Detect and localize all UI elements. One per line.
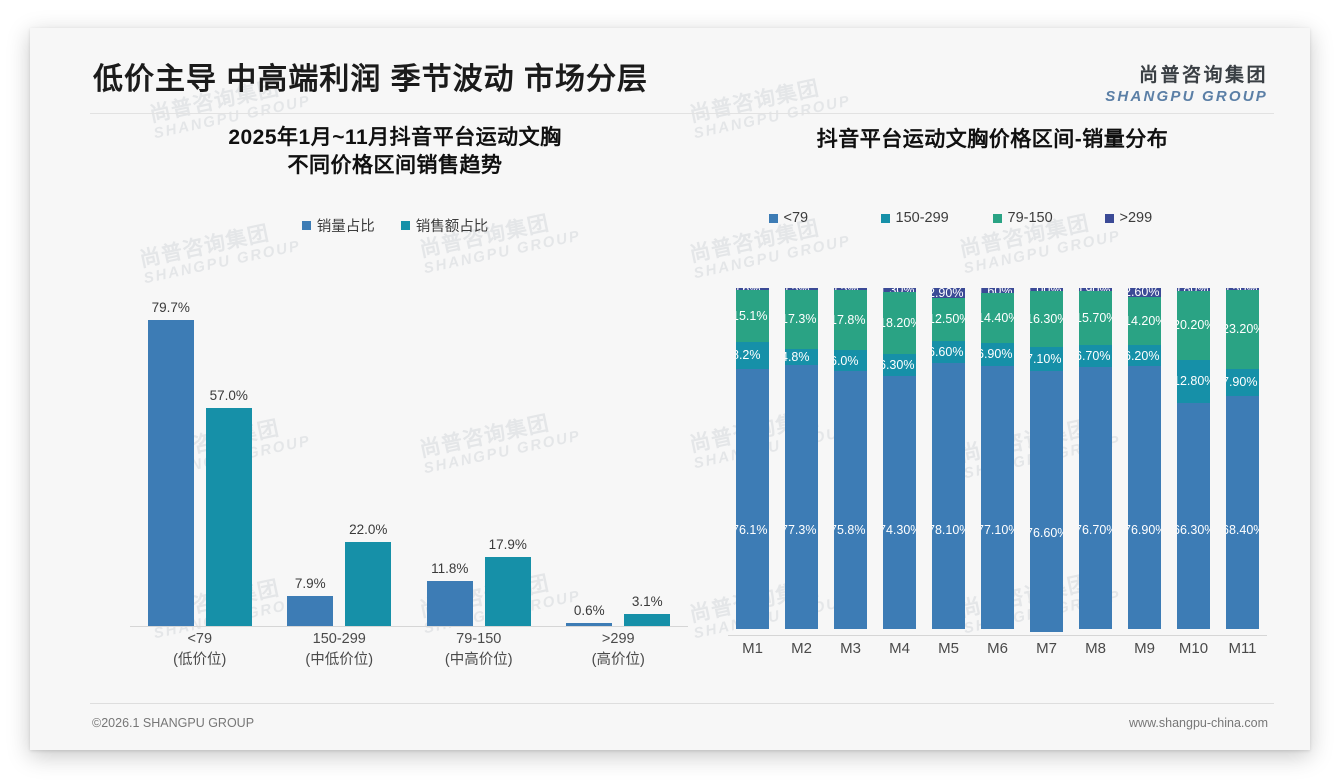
segment-value-label: 6.0% xyxy=(834,354,867,368)
bar-column[interactable]: 57.0% xyxy=(206,281,252,626)
legend-label: 销售额占比 xyxy=(416,215,489,236)
segment-value-label: 6.70% xyxy=(1079,349,1112,363)
segment-value-label: 78.10% xyxy=(932,523,965,537)
stacked-segment-150-299[interactable]: 12.80% xyxy=(1177,360,1210,404)
bar-value-label: 57.0% xyxy=(184,388,274,403)
bar-revenue[interactable] xyxy=(206,408,252,627)
bar-value-label: 11.8% xyxy=(405,561,495,576)
x-tick-tier: (中低价位) xyxy=(270,650,410,671)
left-legend-item-1[interactable]: 销售额占比 xyxy=(401,215,489,236)
right-chart-legend: <79150-29979-150>299 xyxy=(710,210,1275,226)
x-tick-label: 150-299(中低价位) xyxy=(270,629,410,671)
stacked-segment-<79[interactable]: 75.8% xyxy=(834,371,867,629)
segment-value-label: 77.10% xyxy=(981,523,1014,537)
right-chart-x-tick-labels: M1M2M3M4M5M6M7M8M9M10M11 xyxy=(728,640,1267,657)
legend-swatch-icon xyxy=(1105,214,1114,223)
bar-value-label: 79.7% xyxy=(126,300,216,315)
x-tick-tier: (高价位) xyxy=(549,650,689,671)
stacked-bar[interactable]: 0.5%17.8%6.0%75.8% xyxy=(834,288,867,635)
bar-revenue[interactable] xyxy=(485,557,531,626)
bar-value-label: 7.9% xyxy=(265,576,355,591)
x-tick-label-month: M7 xyxy=(1022,640,1071,657)
stacked-bar-column[interactable]: 2.90%12.50%6.60%78.10% xyxy=(924,288,973,635)
stacked-segment-<79[interactable]: 76.60% xyxy=(1030,371,1063,632)
stacked-segment->299[interactable]: 2.60% xyxy=(1128,288,1161,297)
stacked-bar[interactable]: 0.90%15.70%6.70%76.70% xyxy=(1079,288,1112,635)
right-chart-x-axis xyxy=(728,635,1267,636)
stacked-bar-chart: 0.6%15.1%8.2%76.1%0.5%17.3%4.8%77.3%0.5%… xyxy=(720,288,1267,636)
bar-column[interactable]: 22.0% xyxy=(345,281,391,626)
x-tick-label-month: M6 xyxy=(973,640,1022,657)
segment-value-label: 76.1% xyxy=(736,523,769,537)
segment-value-label: 75.8% xyxy=(834,523,867,537)
segment-value-label: 76.90% xyxy=(1128,523,1161,537)
left-legend-item-0[interactable]: 销量占比 xyxy=(302,215,375,236)
stacked-segment-79-150[interactable]: 17.8% xyxy=(834,290,867,351)
left-chart-panel: 2025年1月~11月抖音平台运动文胸 不同价格区间销售趋势 销量占比销售额占比… xyxy=(90,124,700,704)
stacked-bar-column[interactable]: 0.5%17.3%4.8%77.3% xyxy=(777,288,826,635)
segment-value-label: 15.70% xyxy=(1079,311,1112,325)
legend-swatch-icon xyxy=(993,214,1002,223)
stacked-bar-column[interactable]: 0.50%23.20%7.90%68.40% xyxy=(1218,288,1267,635)
stacked-bar-column[interactable]: 0.90%15.70%6.70%76.70% xyxy=(1071,288,1120,635)
x-tick-label: >299(高价位) xyxy=(549,629,689,671)
segment-value-label: 77.3% xyxy=(785,523,818,537)
page-title: 低价主导 中高端利润 季节波动 市场分层 xyxy=(93,54,648,98)
stacked-segment-79-150[interactable]: 15.70% xyxy=(1079,291,1112,345)
bar-revenue[interactable] xyxy=(624,614,670,626)
stacked-bar[interactable]: 0.80%20.20%12.80%66.30% xyxy=(1177,288,1210,635)
legend-label: 79-150 xyxy=(1008,210,1053,226)
segment-value-label: 8.2% xyxy=(736,348,769,362)
bar-column[interactable]: 7.9% xyxy=(287,281,333,626)
stacked-segment-79-150[interactable]: 23.20% xyxy=(1226,290,1259,369)
segment-value-label: 15.1% xyxy=(736,309,769,323)
stacked-segment-<79[interactable]: 66.30% xyxy=(1177,403,1210,629)
header-divider xyxy=(90,113,1274,114)
left-chart-title: 2025年1月~11月抖音平台运动文胸 不同价格区间销售趋势 xyxy=(90,124,700,181)
bar-volume[interactable] xyxy=(427,581,473,626)
stacked-segment-150-299[interactable]: 4.8% xyxy=(785,349,818,365)
stacked-segment-79-150[interactable]: 14.40% xyxy=(981,293,1014,342)
legend-swatch-icon xyxy=(401,221,410,230)
segment-value-label: 14.40% xyxy=(981,311,1014,325)
stacked-bar[interactable]: 0.5%17.3%4.8%77.3% xyxy=(785,288,818,635)
left-chart-x-tick-labels: <79(低价位)150-299(中低价位)79-150(中高价位)>299(高价… xyxy=(130,629,688,671)
bar-column[interactable]: 3.1% xyxy=(624,281,670,626)
bar-value-label: 3.1% xyxy=(602,594,692,609)
bar-group: 0.6%3.1% xyxy=(549,281,689,626)
bar-group: 7.9%22.0% xyxy=(270,281,410,626)
segment-value-label: 6.30% xyxy=(883,358,916,372)
legend-label: 150-299 xyxy=(896,210,949,226)
x-tick-tier: (低价位) xyxy=(130,650,270,671)
segment-value-label: 7.90% xyxy=(1226,375,1259,389)
stacked-segment-79-150[interactable]: 20.20% xyxy=(1177,291,1210,360)
bar-volume[interactable] xyxy=(148,320,194,626)
logo-text-en: SHANGPU GROUP xyxy=(1105,88,1268,105)
slide-footer: ©2026.1 SHANGPU GROUP www.shangpu-china.… xyxy=(30,704,1310,750)
segment-value-label: 12.50% xyxy=(932,312,965,326)
stacked-bar-column[interactable]: 1.60%14.40%6.90%77.10% xyxy=(973,288,1022,635)
left-chart-legend: 销量占比销售额占比 xyxy=(90,215,700,236)
stacked-bar[interactable]: 0.6%15.1%8.2%76.1% xyxy=(736,288,769,635)
x-tick-label-month: M3 xyxy=(826,640,875,657)
right-chart-panel: 抖音平台运动文胸价格区间-销量分布 <79150-29979-150>299 0… xyxy=(710,124,1275,704)
bar-value-label: 22.0% xyxy=(323,522,413,537)
bar-value-label: 17.9% xyxy=(463,537,553,552)
stacked-bar[interactable]: 2.60%14.20%6.20%76.90% xyxy=(1128,288,1161,635)
stacked-segment-79-150[interactable]: 18.20% xyxy=(883,292,916,354)
legend-label: >299 xyxy=(1120,210,1153,226)
bar-revenue[interactable] xyxy=(345,542,391,626)
stacked-segment-150-299[interactable]: 6.60% xyxy=(932,341,965,364)
stacked-segment-79-150[interactable]: 15.1% xyxy=(736,290,769,341)
stacked-bar-column[interactable]: 0.5%17.8%6.0%75.8% xyxy=(826,288,875,635)
stacked-segment-<79[interactable]: 74.30% xyxy=(883,376,916,629)
legend-label: 销量占比 xyxy=(317,215,375,236)
segment-value-label: 76.60% xyxy=(1030,526,1063,540)
stacked-segment-<79[interactable]: 76.90% xyxy=(1128,366,1161,628)
segment-value-label: 74.30% xyxy=(883,523,916,537)
segment-value-label: 7.10% xyxy=(1030,352,1063,366)
stacked-segment->299[interactable]: 2.90% xyxy=(932,288,965,298)
x-tick-label-month: M4 xyxy=(875,640,924,657)
stacked-segment-79-150[interactable]: 14.20% xyxy=(1128,297,1161,345)
right-legend-item-1[interactable]: 150-299 xyxy=(881,210,993,226)
stacked-segment-<79[interactable]: 76.1% xyxy=(736,369,769,629)
stacked-segment-150-299[interactable]: 7.90% xyxy=(1226,369,1259,396)
x-tick-label-month: M10 xyxy=(1169,640,1218,657)
stacked-segment-<79[interactable]: 77.3% xyxy=(785,365,818,629)
segment-value-label: 6.60% xyxy=(932,345,965,359)
stacked-segment-79-150[interactable]: 17.3% xyxy=(785,290,818,349)
stacked-segment-150-299[interactable]: 6.70% xyxy=(1079,345,1112,368)
stacked-bar-column[interactable]: 0.6%15.1%8.2%76.1% xyxy=(728,288,777,635)
segment-value-label: 18.20% xyxy=(883,316,916,330)
legend-swatch-icon xyxy=(881,214,890,223)
stacked-bar-column[interactable]: 0.80%20.20%12.80%66.30% xyxy=(1169,288,1218,635)
stacked-segment-<79[interactable]: 77.10% xyxy=(981,366,1014,629)
stacked-bar[interactable]: 2.90%12.50%6.60%78.10% xyxy=(932,288,965,635)
stacked-bar[interactable]: 1.00%16.30%7.10%76.60% xyxy=(1030,288,1063,635)
x-tick-label-month: M11 xyxy=(1218,640,1267,657)
segment-value-label: 14.20% xyxy=(1128,314,1161,328)
bar-group: 11.8%17.9% xyxy=(409,281,549,626)
x-tick-label-month: M1 xyxy=(728,640,777,657)
stacked-segment-79-150[interactable]: 12.50% xyxy=(932,298,965,341)
stacked-segment-150-299[interactable]: 6.90% xyxy=(981,343,1014,367)
segment-value-label: 66.30% xyxy=(1177,523,1210,537)
stacked-segment-150-299[interactable]: 6.0% xyxy=(834,350,867,370)
x-tick-label: <79(低价位) xyxy=(130,629,270,671)
segment-value-label: 17.8% xyxy=(834,313,867,327)
x-tick-label-month: M9 xyxy=(1120,640,1169,657)
stacked-bar-plot-area: 0.6%15.1%8.2%76.1%0.5%17.3%4.8%77.3%0.5%… xyxy=(728,288,1267,635)
stacked-bar-column[interactable]: 1.30%18.20%6.30%74.30% xyxy=(875,288,924,635)
segment-value-label: 2.90% xyxy=(932,288,965,298)
legend-label: <79 xyxy=(784,210,809,226)
segment-value-label: 17.3% xyxy=(785,312,818,326)
stacked-bar[interactable]: 0.50%23.20%7.90%68.40% xyxy=(1226,288,1259,635)
stacked-segment-150-299[interactable]: 7.10% xyxy=(1030,347,1063,371)
x-tick-label-month: M5 xyxy=(924,640,973,657)
x-tick-tier: (中高价位) xyxy=(409,650,549,671)
x-tick-range: 150-299 xyxy=(270,629,410,650)
bar-column[interactable]: 17.9% xyxy=(485,281,531,626)
x-tick-label: 79-150(中高价位) xyxy=(409,629,549,671)
logo-text-cn: 尚普咨询集团 xyxy=(1105,60,1268,87)
segment-value-label: 68.40% xyxy=(1226,523,1259,537)
stacked-bar-column[interactable]: 2.60%14.20%6.20%76.90% xyxy=(1120,288,1169,635)
stacked-bar-column[interactable]: 1.00%16.30%7.10%76.60% xyxy=(1022,288,1071,635)
stacked-segment-79-150[interactable]: 16.30% xyxy=(1030,291,1063,347)
slide-header: 低价主导 中高端利润 季节波动 市场分层 尚普咨询集团 SHANGPU GROU… xyxy=(30,28,1310,114)
x-tick-label-month: M8 xyxy=(1071,640,1120,657)
right-legend-item-2[interactable]: 79-150 xyxy=(993,210,1105,226)
left-chart-x-axis xyxy=(130,626,688,627)
right-chart-title: 抖音平台运动文胸价格区间-销量分布 xyxy=(710,124,1275,154)
stacked-segment-<79[interactable]: 76.70% xyxy=(1079,367,1112,629)
stacked-segment-<79[interactable]: 68.40% xyxy=(1226,396,1259,629)
legend-swatch-icon xyxy=(769,214,778,223)
brand-logo: 尚普咨询集团 SHANGPU GROUP xyxy=(1105,60,1268,105)
segment-value-label: 4.8% xyxy=(785,350,818,364)
segment-value-label: 6.90% xyxy=(981,347,1014,361)
bar-column[interactable]: 11.8% xyxy=(427,281,473,626)
x-tick-range: 79-150 xyxy=(409,629,549,650)
segment-value-label: 6.20% xyxy=(1128,349,1161,363)
stacked-bar[interactable]: 1.30%18.20%6.30%74.30% xyxy=(883,288,916,635)
slide-card: 尚普咨询集团SHANGPU GROUP尚普咨询集团SHANGPU GROUP尚普… xyxy=(30,28,1310,750)
stacked-segment-<79[interactable]: 78.10% xyxy=(932,363,965,629)
grouped-bar-plot-area: 79.7%57.0%7.9%22.0%11.8%17.9%0.6%3.1% xyxy=(130,281,688,626)
legend-swatch-icon xyxy=(302,221,311,230)
stacked-segment-150-299[interactable]: 6.20% xyxy=(1128,345,1161,366)
footer-copyright: ©2026.1 SHANGPU GROUP xyxy=(92,716,254,730)
bar-column[interactable]: 79.7% xyxy=(148,281,194,626)
right-legend-item-0[interactable]: <79 xyxy=(769,210,881,226)
footer-website: www.shangpu-china.com xyxy=(1129,716,1268,730)
stacked-bar[interactable]: 1.60%14.40%6.90%77.10% xyxy=(981,288,1014,635)
segment-value-label: 2.60% xyxy=(1128,288,1161,297)
segment-value-label: 16.30% xyxy=(1030,312,1063,326)
x-tick-range: >299 xyxy=(549,629,689,650)
bar-column[interactable]: 0.6% xyxy=(566,281,612,626)
stacked-segment-150-299[interactable]: 6.30% xyxy=(883,354,916,375)
stacked-segment-150-299[interactable]: 8.2% xyxy=(736,342,769,370)
segment-value-label: 23.20% xyxy=(1226,322,1259,336)
bar-volume[interactable] xyxy=(287,596,333,626)
x-tick-label-month: M2 xyxy=(777,640,826,657)
left-chart-title-line1: 2025年1月~11月抖音平台运动文胸 xyxy=(90,124,700,152)
segment-value-label: 76.70% xyxy=(1079,523,1112,537)
x-tick-range: <79 xyxy=(130,629,270,650)
right-legend-item-3[interactable]: >299 xyxy=(1105,210,1217,226)
grouped-bar-chart: 79.7%57.0%7.9%22.0%11.8%17.9%0.6%3.1% <7… xyxy=(108,282,688,627)
left-chart-title-line2: 不同价格区间销售趋势 xyxy=(90,152,700,180)
segment-value-label: 20.20% xyxy=(1177,318,1210,332)
segment-value-label: 12.80% xyxy=(1177,374,1210,388)
bar-group: 79.7%57.0% xyxy=(130,281,270,626)
